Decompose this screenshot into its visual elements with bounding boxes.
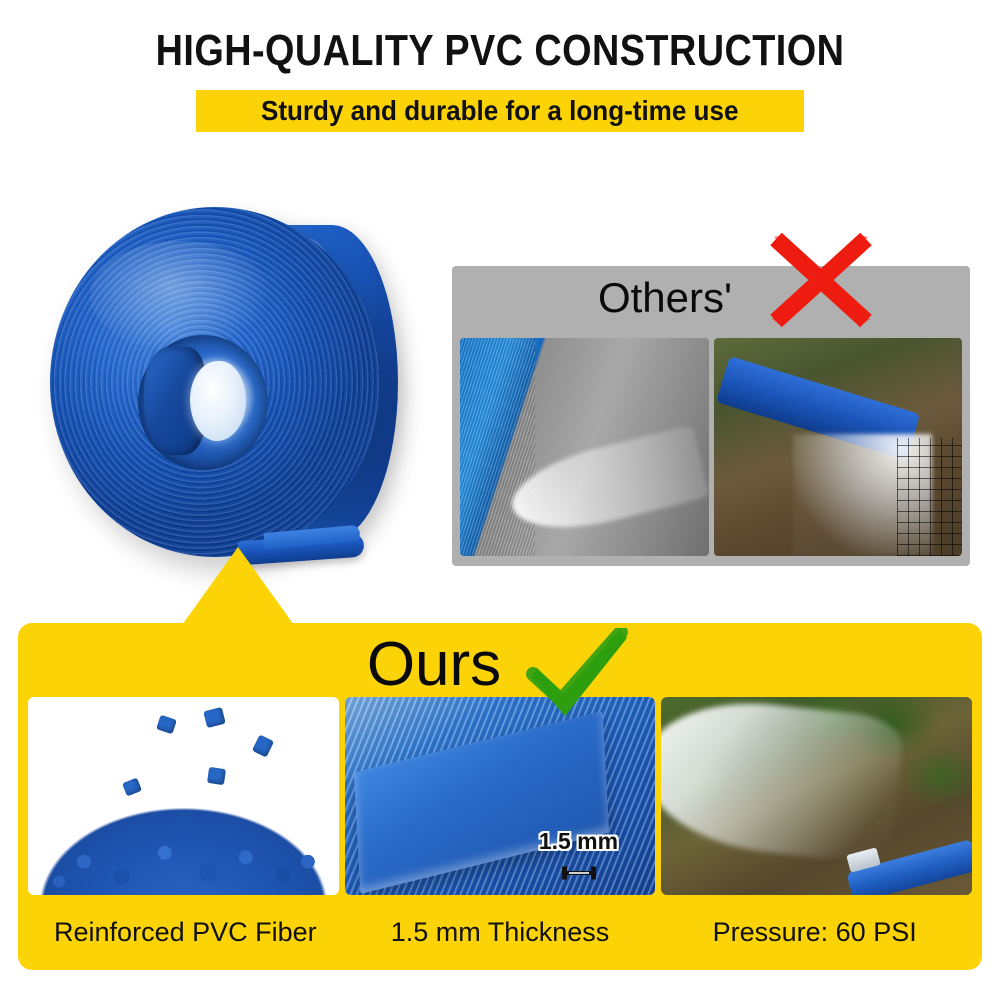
hose-roll-center-hole bbox=[190, 361, 246, 441]
hose-roll-hub bbox=[138, 335, 268, 470]
infographic-canvas: HIGH-QUALITY PVC CONSTRUCTION Sturdy and… bbox=[0, 0, 1000, 1000]
others-label: Others' bbox=[452, 274, 970, 322]
falling-pellet bbox=[157, 715, 178, 735]
subtitle-text: Sturdy and durable for a long-time use bbox=[261, 95, 738, 127]
thickness-overlay-label: 1.5 mm bbox=[539, 828, 618, 855]
subtitle-banner: Sturdy and durable for a long-time use bbox=[196, 90, 804, 132]
ours-label: Ours bbox=[18, 629, 982, 700]
others-wire-mesh bbox=[897, 438, 962, 556]
yellow-arrow-pointer-icon bbox=[182, 547, 294, 625]
others-label-text: Others' bbox=[598, 274, 732, 321]
ours-thumb-hose-thickness: 1.5 mm bbox=[345, 697, 656, 895]
others-thumb-burst-hose bbox=[714, 338, 963, 556]
falling-pellet bbox=[252, 734, 274, 757]
others-comparison-panel: Others' bbox=[452, 266, 970, 566]
caliper-icon bbox=[562, 865, 596, 881]
ours-thumb-pvc-pellets bbox=[28, 697, 339, 895]
ours-label-text: Ours bbox=[367, 630, 501, 699]
ours-thumbnail-row: 1.5 mm bbox=[28, 697, 972, 895]
caption-material: Reinforced PVC Fiber bbox=[28, 905, 343, 959]
product-photo-hose-roll bbox=[28, 185, 418, 585]
ours-thumb-water-pressure bbox=[661, 697, 972, 895]
caption-pressure: Pressure: 60 PSI bbox=[657, 905, 972, 959]
others-thumbnail-row bbox=[460, 338, 962, 556]
falling-pellet bbox=[203, 707, 226, 728]
ours-caption-row: Reinforced PVC Fiber 1.5 mm Thickness Pr… bbox=[28, 905, 972, 959]
ours-comparison-panel: Ours 1.5 mm bbox=[18, 623, 982, 970]
falling-pellet bbox=[207, 767, 226, 785]
hose-roll-highlight bbox=[90, 241, 270, 351]
pellet-grains bbox=[28, 784, 339, 895]
hose-roll-face bbox=[50, 207, 380, 557]
others-thumb-leaking-hose bbox=[460, 338, 709, 556]
caption-thickness: 1.5 mm Thickness bbox=[343, 905, 658, 959]
page-title: HIGH-QUALITY PVC CONSTRUCTION bbox=[70, 26, 930, 76]
